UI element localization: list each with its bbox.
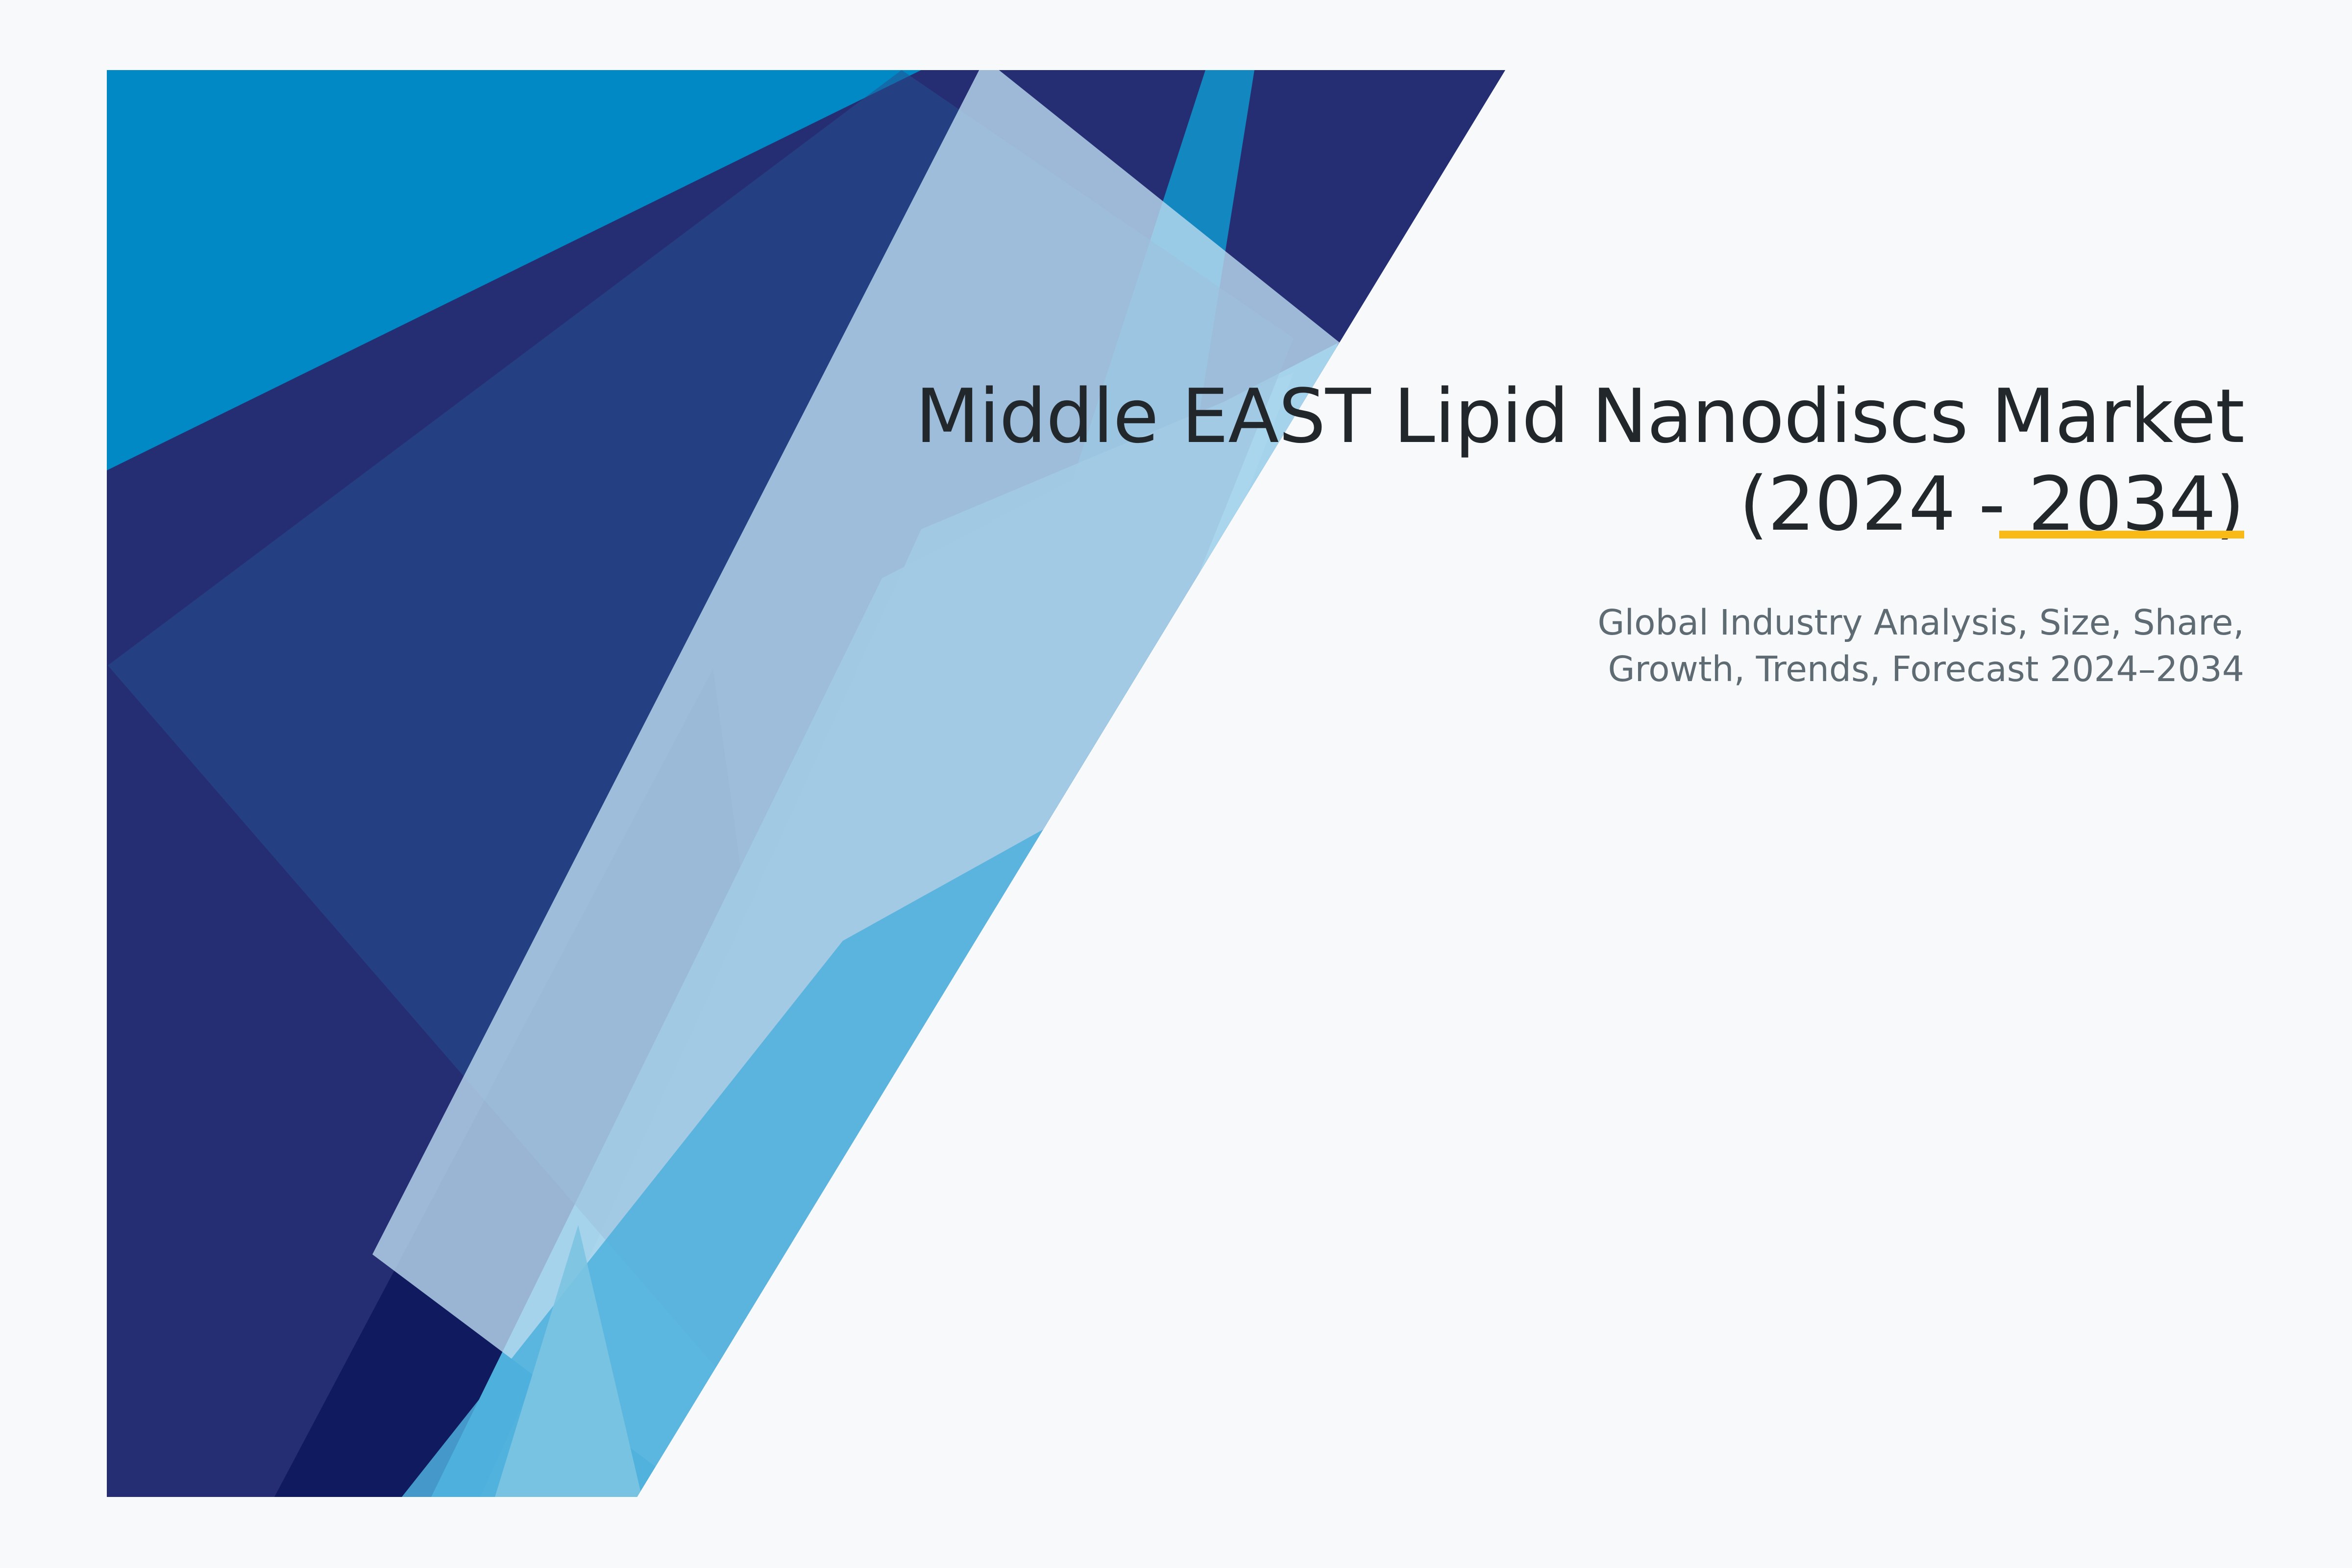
report-subtitle-line-2: Growth, Trends, Forecast 2024–2034 — [1608, 649, 2244, 689]
report-title-line-2-wrap: (2024 - 2034) — [833, 460, 2244, 548]
report-subtitle: Global Industry Analysis, Size, Share, G… — [833, 548, 2244, 692]
abstract-polygon-artwork — [0, 0, 2352, 1568]
report-cover: Middle EAST Lipid Nanodiscs Market (2024… — [0, 0, 2352, 1568]
page-title: Middle EAST Lipid Nanodiscs Market (2024… — [833, 372, 2244, 548]
accent-underline — [1999, 531, 2244, 539]
cover-text-block: Middle EAST Lipid Nanodiscs Market (2024… — [833, 372, 2244, 692]
report-title-line-1: Middle EAST Lipid Nanodiscs Market — [915, 373, 2244, 460]
report-subtitle-line-1: Global Industry Analysis, Size, Share, — [1597, 602, 2244, 643]
